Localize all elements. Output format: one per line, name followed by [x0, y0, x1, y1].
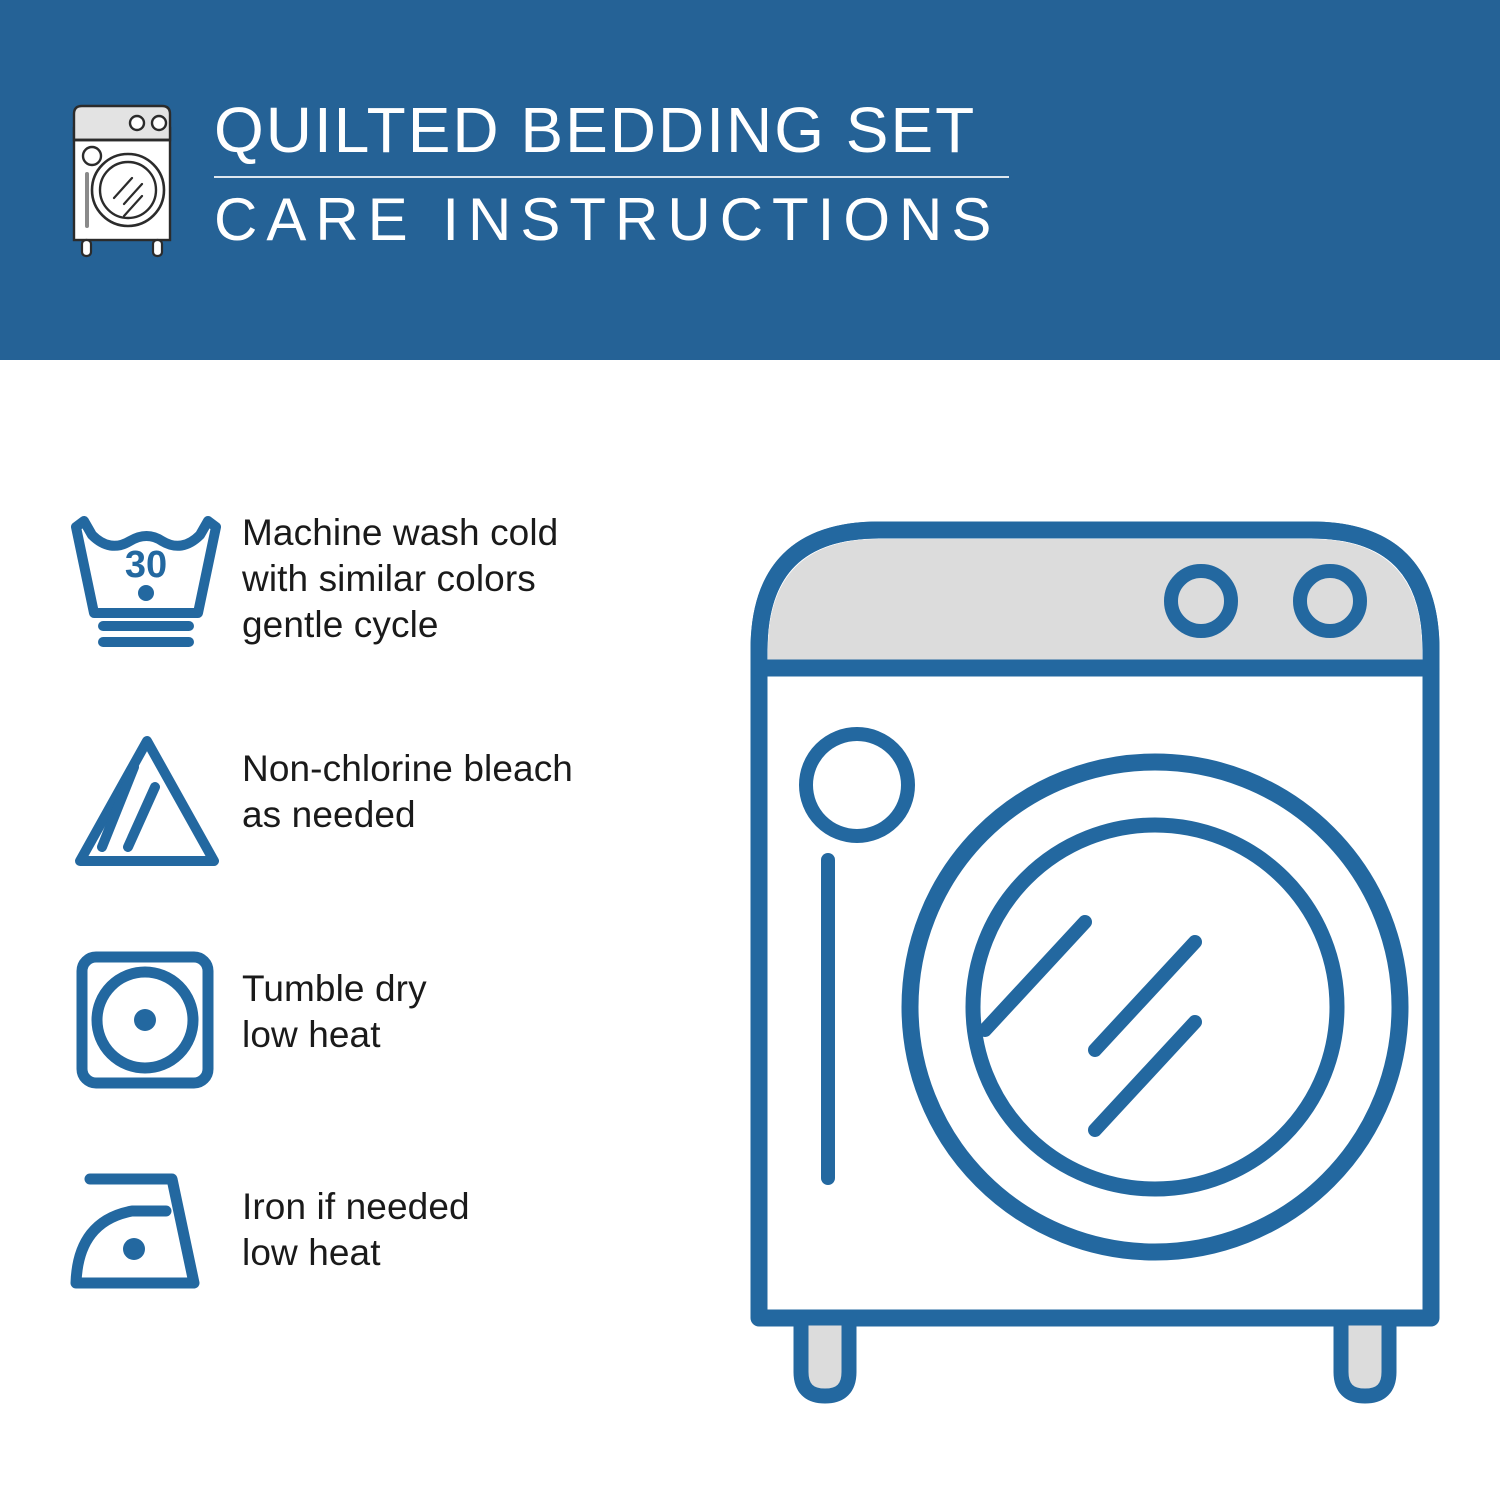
care-row-iron: Iron if needed low heat: [62, 1160, 702, 1380]
care-text-iron: Iron if needed low heat: [242, 1160, 702, 1276]
tumble-dry-low-icon: [62, 940, 242, 1100]
leg: [1341, 1318, 1389, 1396]
non-chlorine-bleach-triangle-icon: [62, 720, 242, 880]
knob: [1171, 571, 1231, 631]
leg: [801, 1318, 849, 1396]
wash-temp-label: 30: [125, 544, 167, 586]
knob: [1300, 571, 1360, 631]
dispenser-circle: [806, 734, 908, 836]
content-area: 30 Machine wash cold with similar colors…: [0, 360, 1500, 1500]
care-row-tumble-dry: Tumble dry low heat: [62, 940, 702, 1160]
care-text-machine-wash: Machine wash cold with similar colors ge…: [242, 500, 702, 648]
wash-tub-30-gentle-icon: 30: [62, 500, 242, 660]
care-instruction-list: 30 Machine wash cold with similar colors…: [62, 500, 702, 1380]
page-subtitle: CARE INSTRUCTIONS: [214, 188, 1062, 252]
page-title: QUILTED BEDDING SET: [214, 96, 1062, 164]
front-load-washing-machine-illustration: [735, 490, 1455, 1450]
header-banner: QUILTED BEDDING SET CARE INSTRUCTIONS: [0, 0, 1500, 360]
washing-machine-icon: [62, 98, 192, 263]
care-row-bleach: Non-chlorine bleach as needed: [62, 720, 702, 940]
care-row-machine-wash: 30 Machine wash cold with similar colors…: [62, 500, 702, 720]
iron-low-heat-icon: [62, 1160, 242, 1320]
header-titles: QUILTED BEDDING SET CARE INSTRUCTIONS: [214, 96, 1062, 252]
header-content: QUILTED BEDDING SET CARE INSTRUCTIONS: [62, 96, 1062, 286]
care-text-tumble-dry: Tumble dry low heat: [242, 940, 702, 1058]
title-divider: [214, 176, 1009, 178]
care-text-bleach: Non-chlorine bleach as needed: [242, 720, 702, 838]
drum-inner-ring: [973, 825, 1337, 1189]
